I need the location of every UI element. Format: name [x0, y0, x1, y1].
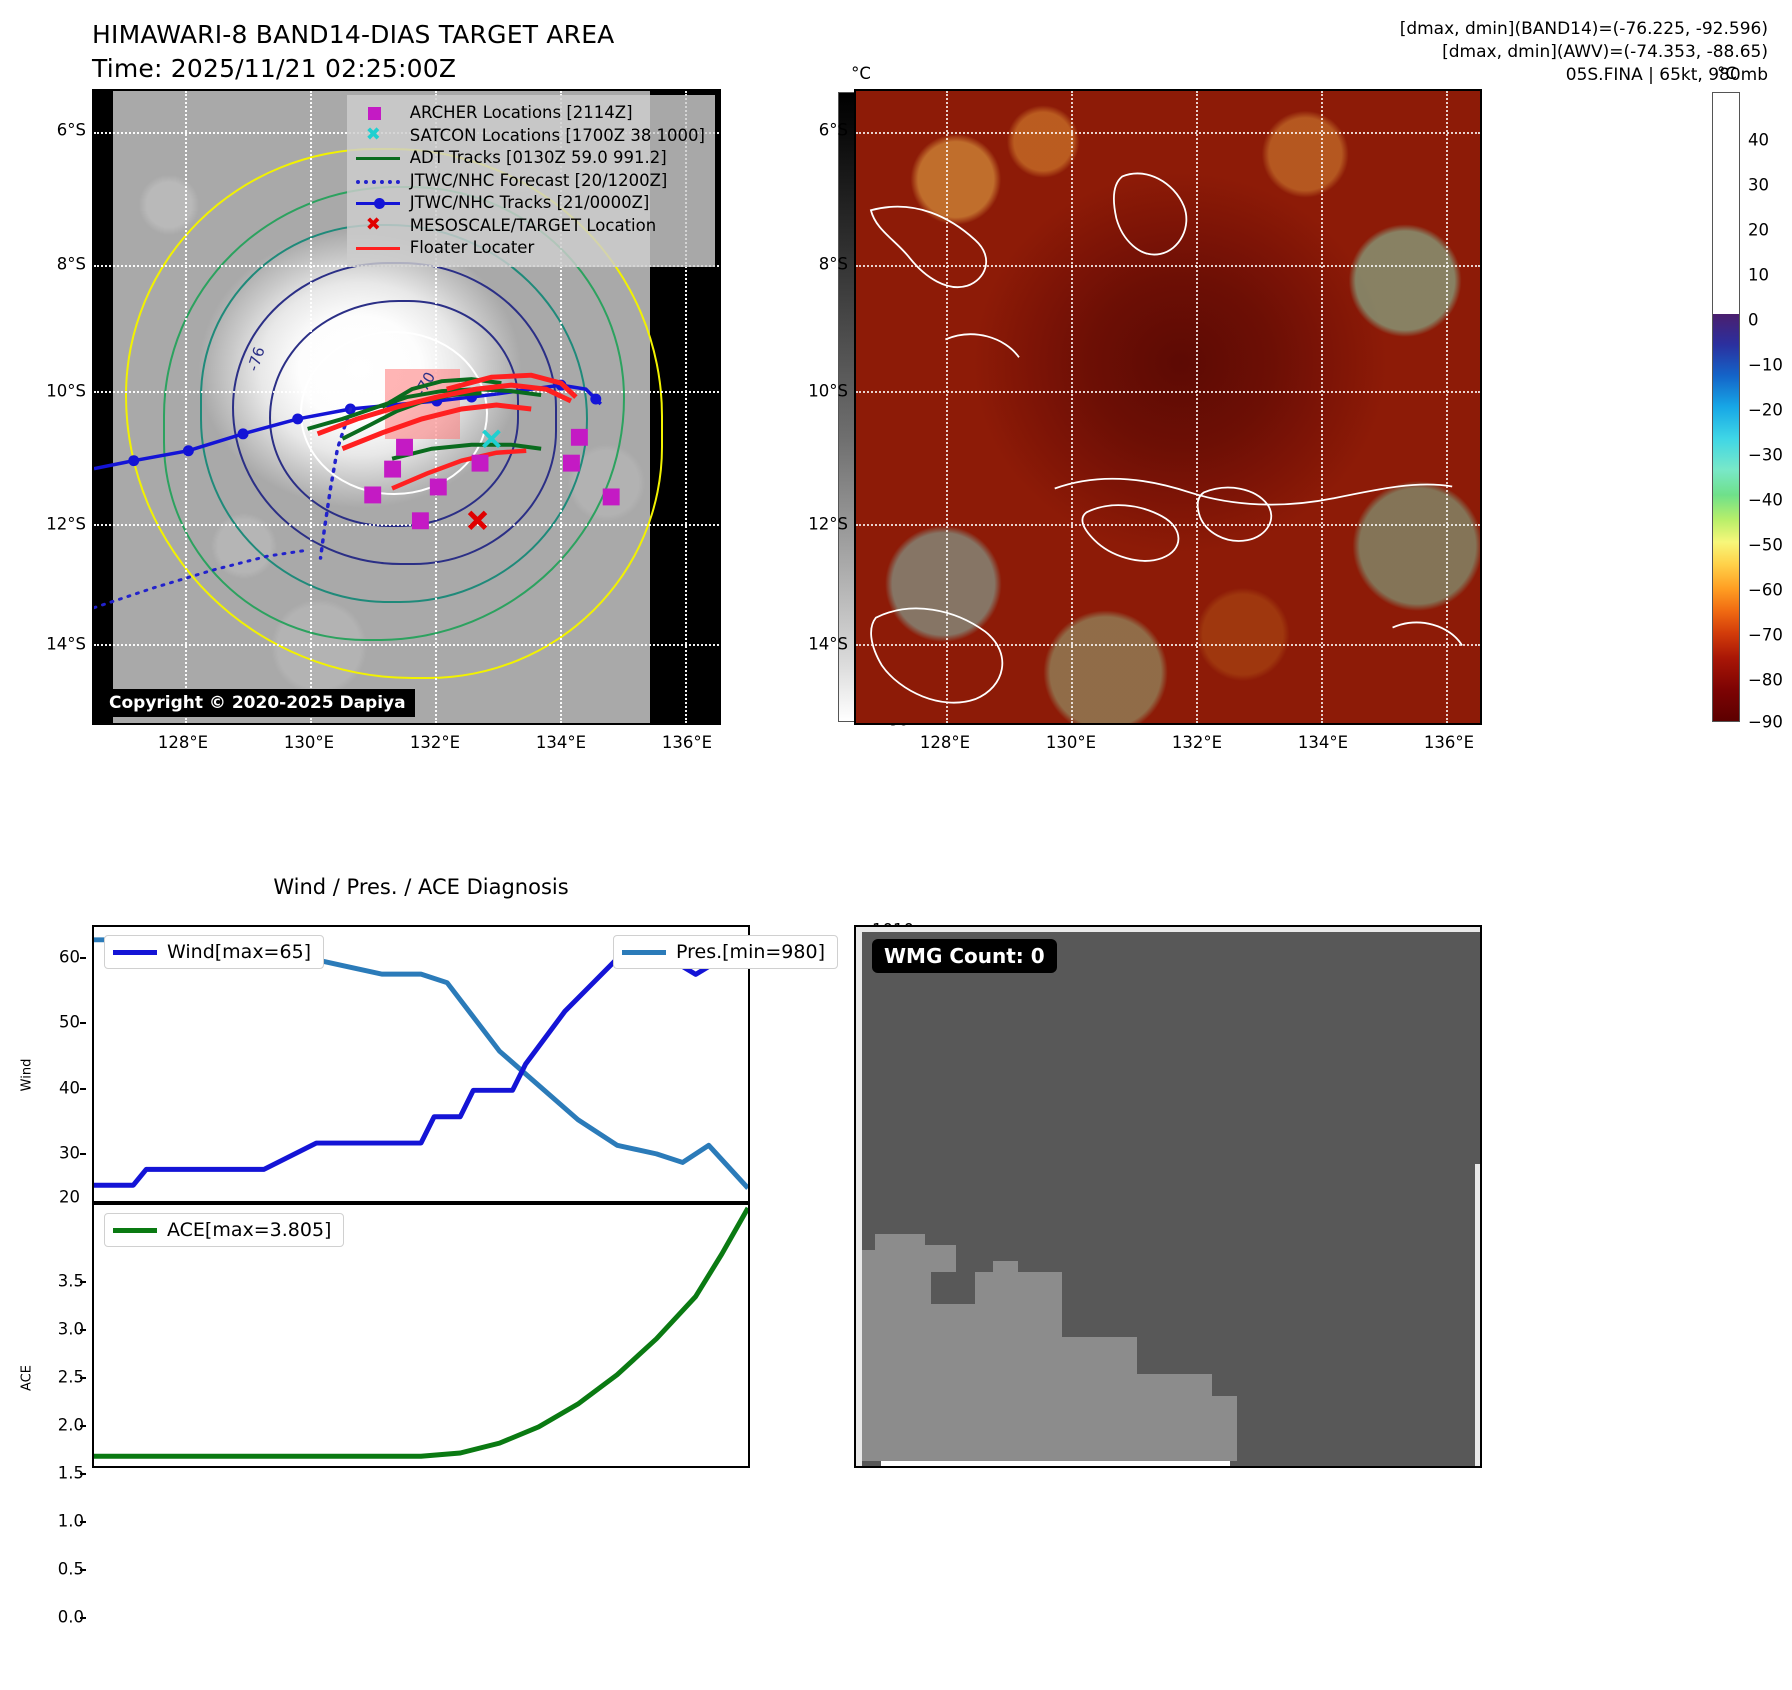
- pressure-series-line: [94, 940, 748, 1188]
- tr-cb-tick-3: 10: [1748, 266, 1769, 285]
- legend-item-forecast: JTWC/NHC Forecast [20/1200Z]: [355, 170, 705, 193]
- legend-item-archer: ARCHER Locations [2114Z]: [355, 102, 705, 125]
- tl-xtick-3: 134°E: [536, 733, 586, 752]
- enhanced-ir-image: [856, 91, 1480, 723]
- tr-xtick-2: 132°E: [1172, 733, 1222, 752]
- wind-legend-label: Wind[max=65]: [167, 941, 311, 963]
- tr-xtick-0: 128°E: [920, 733, 970, 752]
- coastline-se: [1393, 622, 1463, 645]
- coastline-overlay: [856, 91, 1480, 723]
- satellite-ir-panel[interactable]: -76 -70: [92, 89, 721, 725]
- tr-cb-tick-13: −90: [1748, 713, 1783, 732]
- tr-gridline-lat-12s: [856, 524, 1480, 526]
- page-title: HIMAWARI-8 BAND14-DIAS TARGET AREA Time:…: [92, 18, 615, 86]
- ace-tick-7: 0.0: [36, 1608, 84, 1627]
- tl-ytick-2: 10°S: [26, 382, 86, 401]
- wmg-block-3: [906, 1245, 956, 1272]
- tr-gridline-lat-8s: [856, 265, 1480, 267]
- tr-ytick-2: 10°S: [788, 382, 848, 401]
- pressure-legend-label: Pres.[min=980]: [676, 941, 825, 963]
- coastline-nw: [871, 207, 986, 287]
- tr-ytick-3: 12°S: [788, 515, 848, 534]
- tr-cb-tick-2: 20: [1748, 221, 1769, 240]
- tl-ytick-3: 12°S: [26, 515, 86, 534]
- tl-ytick-4: 14°S: [26, 635, 86, 654]
- tr-colorbar: [1712, 92, 1740, 722]
- tr-gridline-lon-128: [946, 91, 948, 723]
- wind-tick-1: 50: [40, 1013, 80, 1032]
- tr-gridline-lon-136: [1446, 91, 1448, 723]
- tr-ytick-0: 6°S: [796, 121, 848, 140]
- pressure-legend: Pres.[min=980]: [613, 935, 838, 969]
- wmg-right-strip: [1475, 1164, 1480, 1466]
- ace-tick-0: 3.5: [36, 1272, 84, 1291]
- wmg-count-badge: WMG Count: 0: [872, 939, 1057, 973]
- legend-label-floater: Floater Locater: [410, 237, 535, 260]
- tl-ytick-0: 6°S: [34, 121, 86, 140]
- legend-label-adt: ADT Tracks [0130Z 59.0 991.2]: [410, 147, 667, 170]
- forecast-dotted-icon: [355, 173, 401, 189]
- coastline-island-2: [1198, 488, 1272, 541]
- legend-item-mesoscale: ✖ MESOSCALE/TARGET Location: [355, 215, 705, 238]
- archer-square-icon: [355, 105, 401, 121]
- wind-tick-0: 60: [40, 948, 80, 967]
- wind-axis-label: Wind: [20, 1059, 35, 1092]
- legend-label-forecast: JTWC/NHC Forecast [20/1200Z]: [410, 170, 668, 193]
- wmg-left-strip: [856, 927, 862, 1466]
- wmg-panel[interactable]: WMG Count: 0: [854, 925, 1482, 1468]
- ace-tick-2: 2.5: [36, 1368, 84, 1387]
- wind-legend-swatch: [113, 950, 157, 955]
- tr-cb-tick-7: −30: [1748, 446, 1783, 465]
- wind-tick-4: 20: [40, 1188, 80, 1207]
- wind-tick-2: 40: [40, 1079, 80, 1098]
- tr-cb-tick-0: 40: [1748, 131, 1769, 150]
- tr-cb-tick-4: 0: [1748, 311, 1759, 330]
- tl-xtick-0: 128°E: [158, 733, 208, 752]
- copyright-notice: Copyright © 2020-2025 Dapiya: [100, 689, 415, 717]
- legend-item-floater: Floater Locater: [355, 237, 705, 260]
- diagnosis-title: Wind / Pres. / ACE Diagnosis: [273, 875, 568, 899]
- tr-cb-tick-1: 30: [1748, 176, 1769, 195]
- storm-info-header: [dmax, dmin](BAND14)=(-76.225, -92.596) …: [1400, 18, 1768, 87]
- floater-locater-line-3: [392, 451, 526, 489]
- tr-gridline-lon-130: [1071, 91, 1073, 723]
- wmg-bottom-strip: [881, 1461, 1230, 1466]
- ace-tick-3: 2.0: [36, 1416, 84, 1435]
- wmg-block-5: [975, 1272, 1062, 1337]
- coastline-w-strip: [945, 334, 1019, 357]
- tr-cb-tick-5: −10: [1748, 356, 1783, 375]
- wind-legend: Wind[max=65]: [104, 935, 324, 969]
- legend-label-satcon: SATCON Locations [1700Z 38 1000]: [410, 125, 705, 148]
- floater-locater-line-2: [342, 405, 531, 449]
- jtwc-track-icon: [355, 195, 401, 211]
- coastline-sw: [871, 608, 1002, 702]
- tl-xtick-2: 132°E: [410, 733, 460, 752]
- tr-cb-tick-8: −40: [1748, 491, 1783, 510]
- tr-xtick-4: 136°E: [1424, 733, 1474, 752]
- coastline-island-1: [1082, 505, 1178, 561]
- legend-label-mesoscale: MESOSCALE/TARGET Location: [410, 215, 656, 238]
- tr-ytick-1: 8°S: [796, 255, 848, 274]
- legend-item-adt: ADT Tracks [0130Z 59.0 991.2]: [355, 147, 705, 170]
- wmg-block-6: [993, 1261, 1018, 1283]
- tr-cb-tick-10: −60: [1748, 581, 1783, 600]
- tl-ytick-1: 8°S: [34, 255, 86, 274]
- tr-ytick-4: 14°S: [788, 635, 848, 654]
- tr-xtick-3: 134°E: [1298, 733, 1348, 752]
- tr-colorbar-unit: °C: [1717, 64, 1737, 83]
- ace-tick-6: 0.5: [36, 1560, 84, 1579]
- floater-line-icon: [355, 240, 401, 256]
- mesoscale-target-location: [470, 512, 486, 528]
- ace-tick-4: 1.5: [36, 1464, 84, 1483]
- tr-cb-tick-11: −70: [1748, 626, 1783, 645]
- ace-legend: ACE[max=3.805]: [104, 1213, 344, 1247]
- wmg-top-strip: [856, 927, 1480, 932]
- legend-item-satcon: ✖ SATCON Locations [1700Z 38 1000]: [355, 125, 705, 148]
- tr-xtick-1: 130°E: [1046, 733, 1096, 752]
- enhanced-ir-panel[interactable]: [854, 89, 1482, 725]
- tr-cb-tick-12: −80: [1748, 671, 1783, 690]
- legend-label-jtwc-tracks: JTWC/NHC Tracks [21/0000Z]: [410, 192, 650, 215]
- tr-gridline-lat-6s: [856, 132, 1480, 134]
- tr-gridline-lat-14s: [856, 644, 1480, 646]
- ace-legend-swatch: [113, 1228, 157, 1233]
- jtwc-forecast-line-2: [94, 550, 308, 608]
- satcon-x-icon: ✖: [355, 128, 401, 144]
- tr-gridline-lon-132: [1196, 91, 1198, 723]
- tr-cb-tick-6: −20: [1748, 401, 1783, 420]
- tr-gridline-lon-134: [1321, 91, 1323, 723]
- satellite-legend: ARCHER Locations [2114Z] ✖ SATCON Locati…: [347, 95, 715, 267]
- pressure-legend-swatch: [622, 950, 666, 955]
- ace-axis-label: ACE: [20, 1365, 35, 1391]
- legend-item-jtwc-tracks: JTWC/NHC Tracks [21/0000Z]: [355, 192, 705, 215]
- coastline-central: [1055, 479, 1452, 505]
- wind-tick-3: 30: [40, 1144, 80, 1163]
- ace-tick-1: 3.0: [36, 1320, 84, 1339]
- wmg-block-9: [862, 1396, 1236, 1461]
- legend-label-archer: ARCHER Locations [2114Z]: [410, 102, 633, 125]
- tr-cb-tick-9: −50: [1748, 536, 1783, 555]
- tl-colorbar-unit: °C: [851, 64, 871, 83]
- tr-gridline-lat-10s: [856, 391, 1480, 393]
- adt-line-icon: [355, 150, 401, 166]
- mesoscale-x-icon: ✖: [355, 218, 401, 234]
- ace-tick-5: 1.0: [36, 1512, 84, 1531]
- ace-legend-label: ACE[max=3.805]: [167, 1219, 331, 1241]
- tl-xtick-1: 130°E: [284, 733, 334, 752]
- tl-xtick-4: 136°E: [662, 733, 712, 752]
- coastline-north: [1114, 173, 1187, 254]
